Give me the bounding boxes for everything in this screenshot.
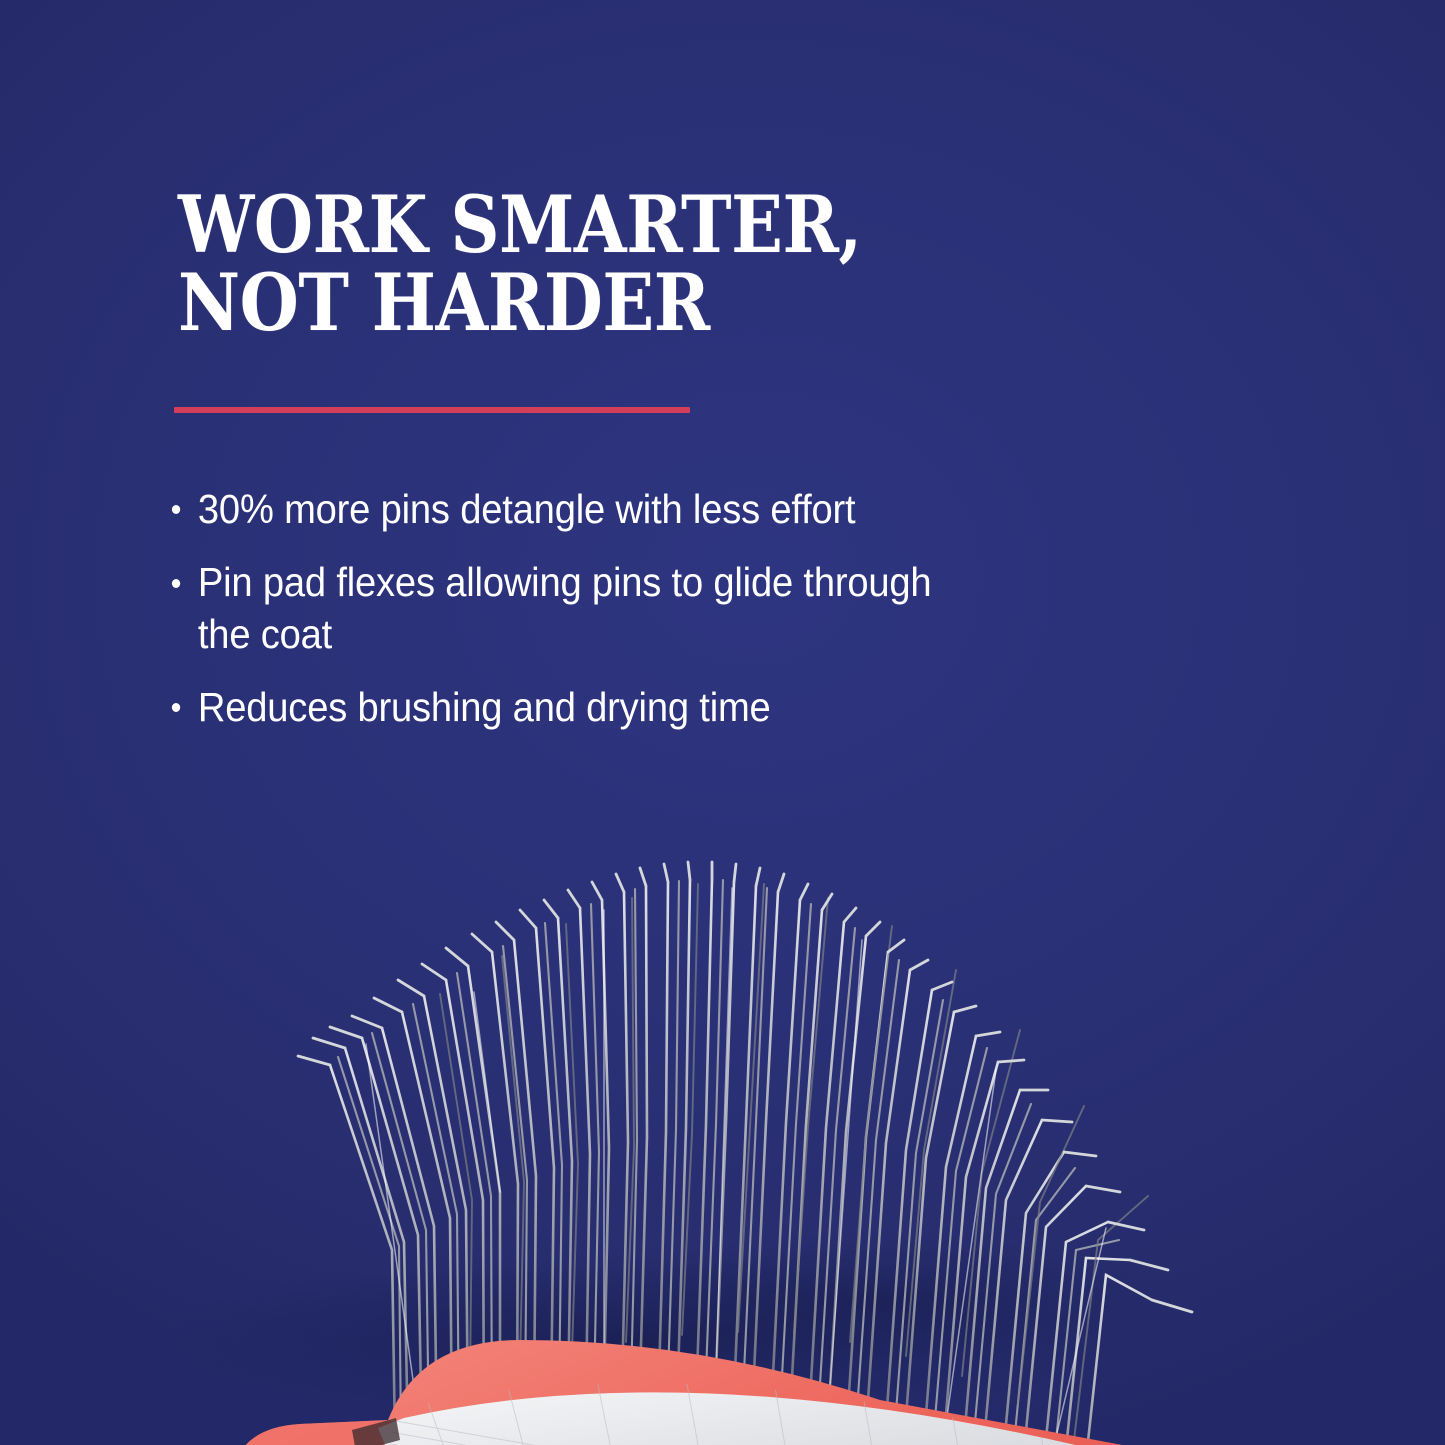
divider-rule bbox=[174, 407, 690, 413]
bullet-dot-icon bbox=[172, 505, 180, 514]
headline-block: WORK SMARTER, NOT HARDER bbox=[178, 186, 1078, 342]
list-item: Pin pad flexes allowing pins to glide th… bbox=[170, 557, 942, 660]
bullet-dot-icon bbox=[172, 579, 180, 588]
promo-graphic: WORK SMARTER, NOT HARDER 30% more pins d… bbox=[0, 0, 1445, 1445]
page-title: WORK SMARTER, NOT HARDER bbox=[178, 186, 952, 342]
bullet-dot-icon bbox=[172, 703, 180, 712]
list-item: 30% more pins detangle with less effort bbox=[170, 484, 942, 535]
product-image bbox=[0, 780, 1445, 1445]
list-item: Reduces brushing and drying time bbox=[170, 682, 942, 733]
list-item-label: Reduces brushing and drying time bbox=[198, 684, 771, 730]
feature-bullet-list: 30% more pins detangle with less effort … bbox=[170, 484, 1000, 733]
list-item-label: 30% more pins detangle with less effort bbox=[198, 486, 856, 532]
list-item-label: Pin pad flexes allowing pins to glide th… bbox=[198, 559, 932, 656]
